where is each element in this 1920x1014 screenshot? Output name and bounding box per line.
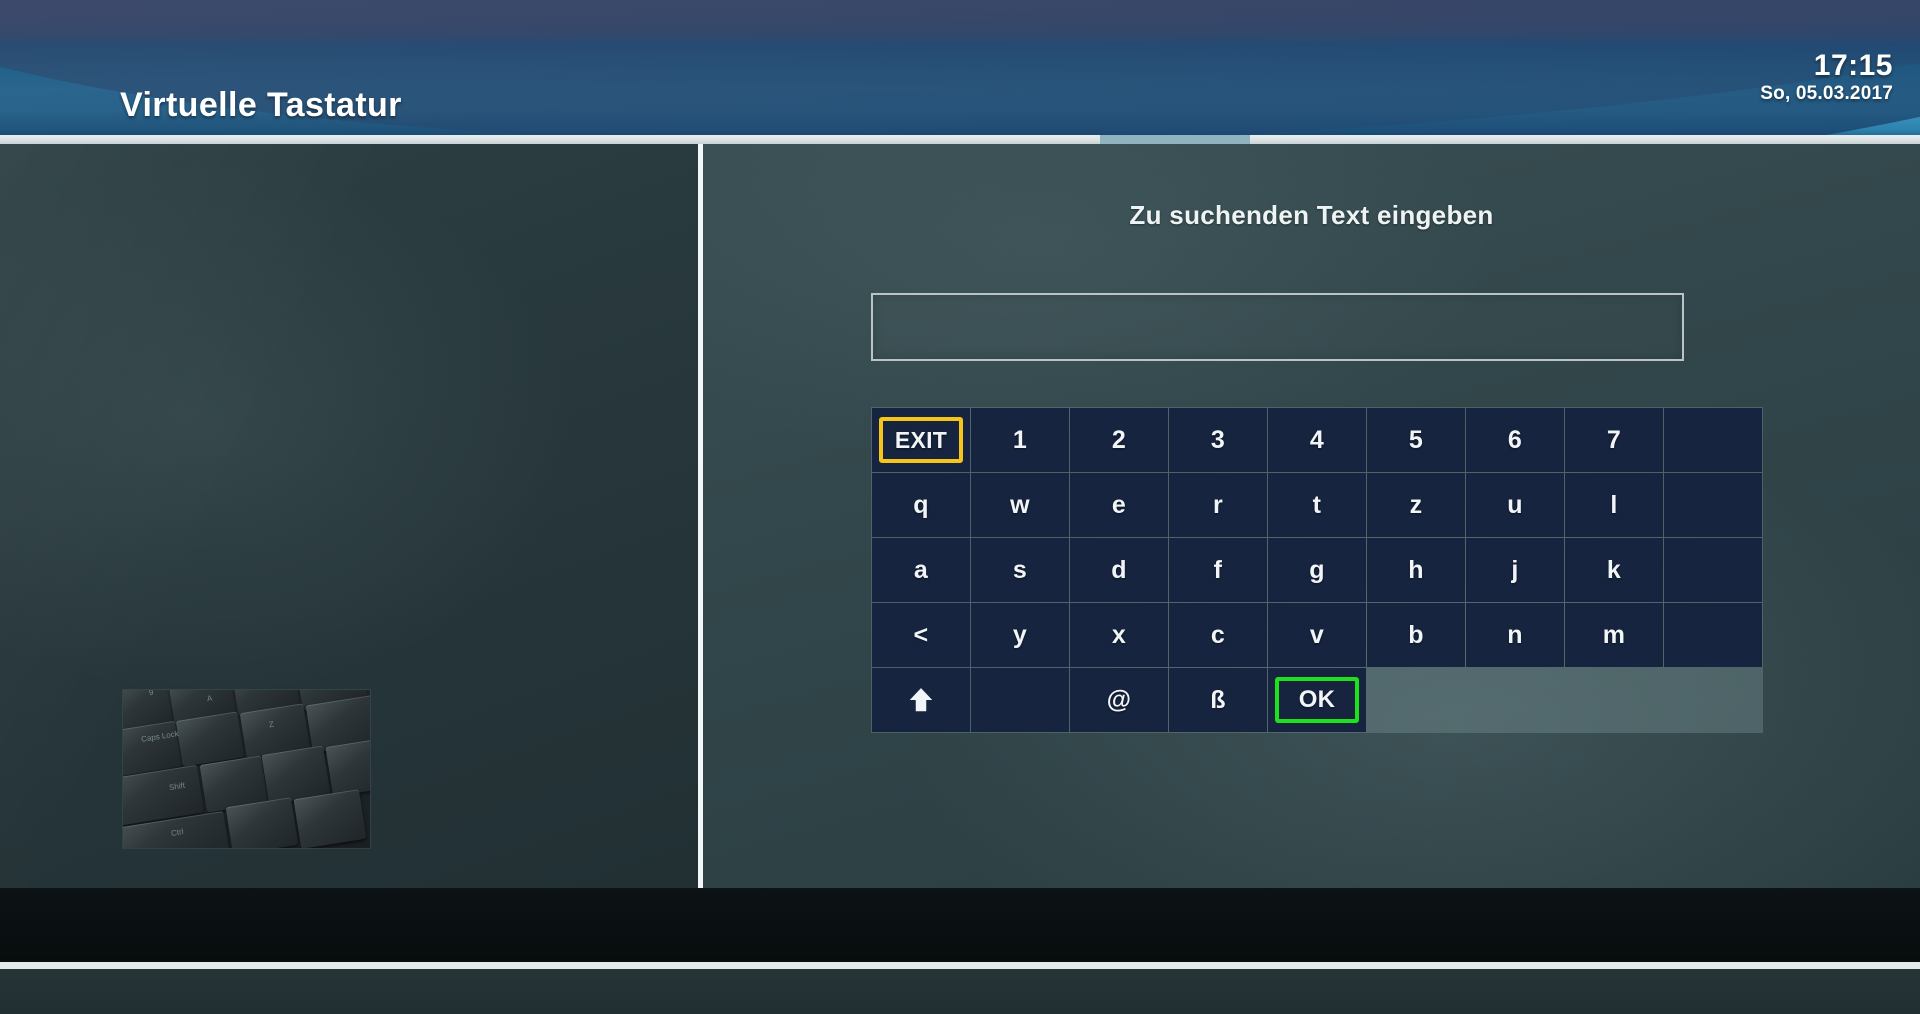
key-7[interactable]: 7	[1565, 408, 1663, 472]
key-empty-r5c7	[1466, 668, 1564, 732]
key-ok[interactable]: OK	[1268, 668, 1366, 732]
key-4[interactable]: 4	[1268, 408, 1366, 472]
key-q-label: q	[872, 473, 970, 537]
key-5[interactable]: 5	[1367, 408, 1465, 472]
key-2-label: 2	[1070, 408, 1168, 472]
key-m[interactable]: m	[1565, 603, 1663, 667]
key-l[interactable]: l	[1565, 473, 1663, 537]
key-eszett[interactable]: ß	[1169, 668, 1267, 732]
virtual-keyboard-screen: Virtuelle Tastatur 17:15 So, 05.03.2017 …	[0, 0, 1920, 1014]
key-a[interactable]: a	[872, 538, 970, 602]
key-t-label: t	[1268, 473, 1366, 537]
key-r[interactable]: r	[1169, 473, 1267, 537]
footer-bottom-band	[0, 969, 1920, 1014]
key-less-than[interactable]: <	[872, 603, 970, 667]
footer-dark-band	[0, 888, 1920, 962]
key-space-label	[971, 668, 1069, 732]
key-z[interactable]: z	[1367, 473, 1465, 537]
header-separator-accent	[1100, 135, 1250, 144]
key-j-label: j	[1466, 538, 1564, 602]
key-6[interactable]: 6	[1466, 408, 1564, 472]
clock-time: 17:15	[1760, 50, 1893, 82]
key-empty-r5c6	[1367, 668, 1465, 732]
key-blank-r1c9-label	[1664, 408, 1762, 472]
key-d[interactable]: d	[1070, 538, 1168, 602]
key-empty-r5c9-label	[1664, 668, 1762, 732]
key-w[interactable]: w	[971, 473, 1069, 537]
key-space[interactable]	[971, 668, 1069, 732]
key-h-label: h	[1367, 538, 1465, 602]
shift-up-arrow-icon	[872, 668, 970, 732]
key-e[interactable]: e	[1070, 473, 1168, 537]
key-eszett-label: ß	[1169, 668, 1267, 732]
search-input[interactable]	[871, 293, 1684, 361]
clock-date: So, 05.03.2017	[1760, 82, 1893, 106]
key-shift[interactable]	[872, 668, 970, 732]
key-empty-r5c8	[1565, 668, 1663, 732]
key-q[interactable]: q	[872, 473, 970, 537]
page-title: Virtuelle Tastatur	[120, 86, 402, 125]
key-e-label: e	[1070, 473, 1168, 537]
key-b[interactable]: b	[1367, 603, 1465, 667]
key-7-label: 7	[1565, 408, 1663, 472]
key-y[interactable]: y	[971, 603, 1069, 667]
key-3-label: 3	[1169, 408, 1267, 472]
key-f-label: f	[1169, 538, 1267, 602]
virtual-keyboard-grid[interactable]: EXIT1234567qwertzulasdfghjk<yxcvbnm@ßOK	[871, 407, 1763, 733]
key-v[interactable]: v	[1268, 603, 1366, 667]
key-l-label: l	[1565, 473, 1663, 537]
key-x-label: x	[1070, 603, 1168, 667]
key-3[interactable]: 3	[1169, 408, 1267, 472]
key-6-label: 6	[1466, 408, 1564, 472]
key-d-label: d	[1070, 538, 1168, 602]
key-a-label: a	[872, 538, 970, 602]
key-blank-r4c9[interactable]	[1664, 603, 1762, 667]
header-separator	[0, 135, 1920, 144]
key-blank-r1c9[interactable]	[1664, 408, 1762, 472]
key-y-label: y	[971, 603, 1069, 667]
key-exit[interactable]: EXIT	[872, 408, 970, 472]
key-blank-r3c9[interactable]	[1664, 538, 1762, 602]
key-n-label: n	[1466, 603, 1564, 667]
key-1-label: 1	[971, 408, 1069, 472]
key-blank-r2c9-label	[1664, 473, 1762, 537]
key-empty-r5c6-label	[1367, 668, 1465, 732]
key-2[interactable]: 2	[1070, 408, 1168, 472]
key-empty-r5c7-label	[1466, 668, 1564, 732]
key-t[interactable]: t	[1268, 473, 1366, 537]
key-4-label: 4	[1268, 408, 1366, 472]
key-s[interactable]: s	[971, 538, 1069, 602]
key-less-than-label: <	[872, 603, 970, 667]
app-header: Virtuelle Tastatur 17:15 So, 05.03.2017	[0, 0, 1920, 135]
key-u-label: u	[1466, 473, 1564, 537]
key-empty-r5c9	[1664, 668, 1762, 732]
key-blank-r4c9-label	[1664, 603, 1762, 667]
prompt-label: Zu suchenden Text eingeben	[703, 200, 1920, 231]
key-blank-r3c9-label	[1664, 538, 1762, 602]
key-ok-label: OK	[1275, 677, 1359, 723]
key-blank-r2c9[interactable]	[1664, 473, 1762, 537]
key-at[interactable]: @	[1070, 668, 1168, 732]
key-k-label: k	[1565, 538, 1663, 602]
footer-separator	[0, 962, 1920, 969]
key-j[interactable]: j	[1466, 538, 1564, 602]
key-5-label: 5	[1367, 408, 1465, 472]
key-exit-label: EXIT	[879, 417, 963, 463]
key-z-label: z	[1367, 473, 1465, 537]
key-c[interactable]: c	[1169, 603, 1267, 667]
key-m-label: m	[1565, 603, 1663, 667]
key-s-label: s	[971, 538, 1069, 602]
key-x[interactable]: x	[1070, 603, 1168, 667]
key-k[interactable]: k	[1565, 538, 1663, 602]
key-1[interactable]: 1	[971, 408, 1069, 472]
key-g[interactable]: g	[1268, 538, 1366, 602]
clock: 17:15 So, 05.03.2017	[1760, 50, 1893, 106]
key-n[interactable]: n	[1466, 603, 1564, 667]
key-at-label: @	[1070, 668, 1168, 732]
key-f[interactable]: f	[1169, 538, 1267, 602]
key-r-label: r	[1169, 473, 1267, 537]
key-h[interactable]: h	[1367, 538, 1465, 602]
keyboard-closeup-photo: Caps Lock Shift Ctrl A Z X 9 S	[123, 690, 370, 848]
key-g-label: g	[1268, 538, 1366, 602]
key-c-label: c	[1169, 603, 1267, 667]
key-w-label: w	[971, 473, 1069, 537]
key-u[interactable]: u	[1466, 473, 1564, 537]
key-b-label: b	[1367, 603, 1465, 667]
key-v-label: v	[1268, 603, 1366, 667]
key-empty-r5c8-label	[1565, 668, 1663, 732]
